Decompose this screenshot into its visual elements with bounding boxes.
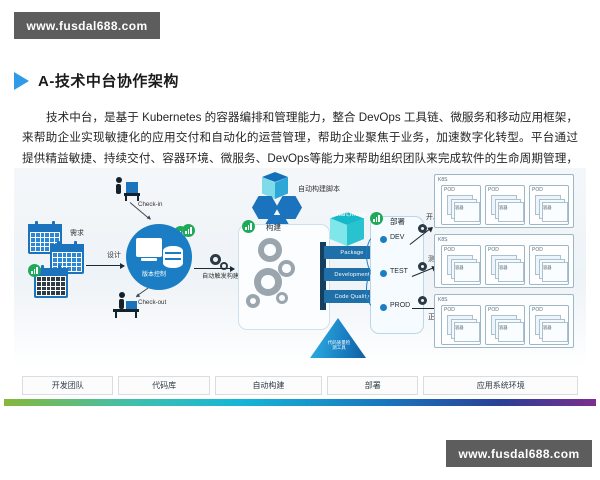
- label-auto-build-script: 自动构建脚本: [298, 186, 340, 193]
- k8s-cluster: K8S POD容器 POD容器 POD容器: [434, 294, 574, 348]
- label-checkin: Check-in: [138, 202, 162, 208]
- arrow-marker-icon: [14, 72, 29, 90]
- chart-badge-icon: [370, 212, 383, 225]
- label-build: 构建: [266, 224, 281, 232]
- code-quality-pyramid-icon: [310, 318, 366, 358]
- legend-item-auto-build[interactable]: 自动构建: [215, 376, 322, 395]
- legend-row: 开发团队 代码库 自动构建 部署 应用系统环境: [22, 376, 578, 395]
- container-label: 容器: [499, 205, 508, 211]
- label-checkout: Check-out: [138, 300, 166, 306]
- container-label: 容器: [455, 205, 464, 211]
- gear-icon: [254, 268, 282, 296]
- k8s-label: K8S: [438, 237, 447, 243]
- container-label: 容器: [543, 265, 552, 271]
- gear-icon: [418, 296, 427, 305]
- k8s-label: K8S: [438, 177, 447, 183]
- pod: POD容器: [529, 305, 569, 345]
- legend-label: 自动构建: [252, 380, 284, 391]
- legend-item-app-env[interactable]: 应用系统环境: [423, 376, 578, 395]
- gear-icon: [278, 260, 295, 277]
- gear-icon: [258, 238, 282, 262]
- build-panel: [238, 224, 330, 330]
- gear-icon: [276, 292, 288, 304]
- legend-item-code-repo[interactable]: 代码库: [118, 376, 209, 395]
- pod-label: POD: [488, 307, 499, 313]
- deploy-curve: [366, 268, 388, 310]
- label-chart-image: Chart,Image: [332, 212, 368, 219]
- pod: POD容器: [485, 185, 525, 225]
- pod: POD容器: [485, 305, 525, 345]
- label-pyramid: 代码质量检测工具: [326, 340, 352, 350]
- label-design: 设计: [107, 252, 121, 259]
- container-label: 容器: [543, 325, 552, 331]
- page-title: A-技术中台协作架构: [14, 70, 179, 91]
- container-label: 容器: [543, 205, 552, 211]
- legend-label: 代码库: [152, 380, 176, 391]
- gradient-divider: [4, 399, 596, 406]
- legend-label: 应用系统环境: [477, 380, 525, 391]
- pod: POD容器: [441, 305, 481, 345]
- arrow-design: [86, 265, 124, 266]
- person-checkin-icon: [112, 176, 140, 202]
- label-version-control: 版本控制: [142, 272, 166, 278]
- chart-badge-icon: [242, 220, 255, 233]
- pod-label: POD: [444, 247, 455, 253]
- legend-item-deploy[interactable]: 部署: [327, 376, 418, 395]
- container-label: 容器: [455, 265, 464, 271]
- pod-label: POD: [532, 247, 543, 253]
- pod: POD容器: [529, 185, 569, 225]
- deploy-node-label: TEST: [390, 268, 408, 275]
- watermark-top: www.fusdal688.com: [14, 12, 160, 39]
- pod-label: POD: [488, 187, 499, 193]
- architecture-diagram: 需求 设计 Check-in Check-out 版本控制 自动构建脚本 自动触…: [14, 168, 586, 368]
- chart-badge-icon: [28, 264, 41, 277]
- label-auto-trigger-build: 自动触发构建: [202, 274, 239, 280]
- legend-item-dev-team[interactable]: 开发团队: [22, 376, 113, 395]
- arrow-trigger-build: [194, 268, 234, 269]
- label-deploy: 部署: [390, 218, 405, 226]
- pod: POD容器: [441, 185, 481, 225]
- container-label: 容器: [455, 325, 464, 331]
- page-title-text: A-技术中台协作架构: [38, 70, 179, 91]
- container-label: 容器: [499, 265, 508, 271]
- k8s-cluster: K8S POD容器 POD容器 POD容器: [434, 234, 574, 288]
- chart-badge-icon: [182, 224, 195, 237]
- k8s-cluster: K8S POD容器 POD容器 POD容器: [434, 174, 574, 228]
- label-requirement: 需求: [70, 230, 84, 237]
- deploy-node-label: PROD: [390, 302, 410, 309]
- container-label: 容器: [499, 325, 508, 331]
- pod-label: POD: [444, 307, 455, 313]
- pod: POD容器: [441, 245, 481, 285]
- k8s-label: K8S: [438, 297, 447, 303]
- legend-label: 部署: [365, 380, 381, 391]
- legend-label: 开发团队: [52, 380, 84, 391]
- pod-label: POD: [444, 187, 455, 193]
- pod-label: POD: [532, 187, 543, 193]
- pod-label: POD: [532, 307, 543, 313]
- deploy-node-label: DEV: [390, 234, 404, 241]
- gear-icon: [246, 294, 260, 308]
- pod: POD容器: [485, 245, 525, 285]
- pod-label: POD: [488, 247, 499, 253]
- pod: POD容器: [529, 245, 569, 285]
- watermark-bottom: www.fusdal688.com: [446, 440, 592, 467]
- gear-icon: [210, 254, 221, 265]
